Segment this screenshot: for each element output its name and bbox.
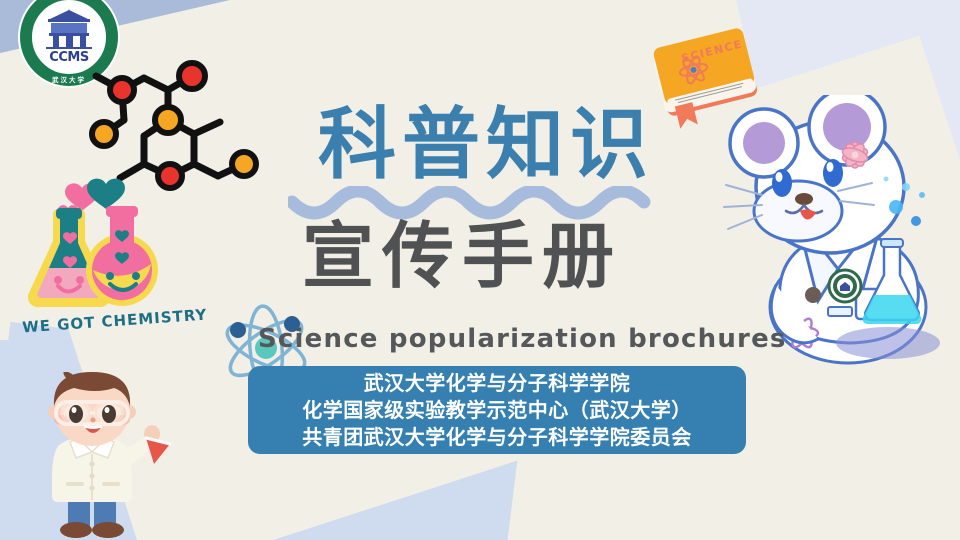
banner-line-1: 武汉大学化学与分子科学学院 xyxy=(364,370,631,397)
poster-canvas: 化学与分子科学学院 武汉大学 CCMS xyxy=(0,0,960,540)
banner-line-2: 化学国家级实验教学示范中心（武汉大学） xyxy=(302,397,692,424)
logo-acronym: CCMS xyxy=(49,50,88,65)
boy-scientist-illustration xyxy=(10,372,190,540)
main-title-line1: 科普知识 xyxy=(318,106,654,184)
organization-banner: 武汉大学化学与分子科学学院 化学国家级实验教学示范中心（武汉大学） 共青团武汉大… xyxy=(248,366,746,454)
chemistry-flasks-sticker xyxy=(18,172,178,327)
english-subtitle: Science popularization brochures xyxy=(258,324,787,354)
banner-line-3: 共青团武汉大学化学与分子科学学院委员会 xyxy=(302,424,692,451)
logo-gate-icon xyxy=(40,9,98,49)
main-title-line2: 宣传手册 xyxy=(302,220,622,292)
logo-chinese-bottom-text: 武汉大学 xyxy=(52,74,86,84)
boy-flask-icon xyxy=(146,438,170,464)
